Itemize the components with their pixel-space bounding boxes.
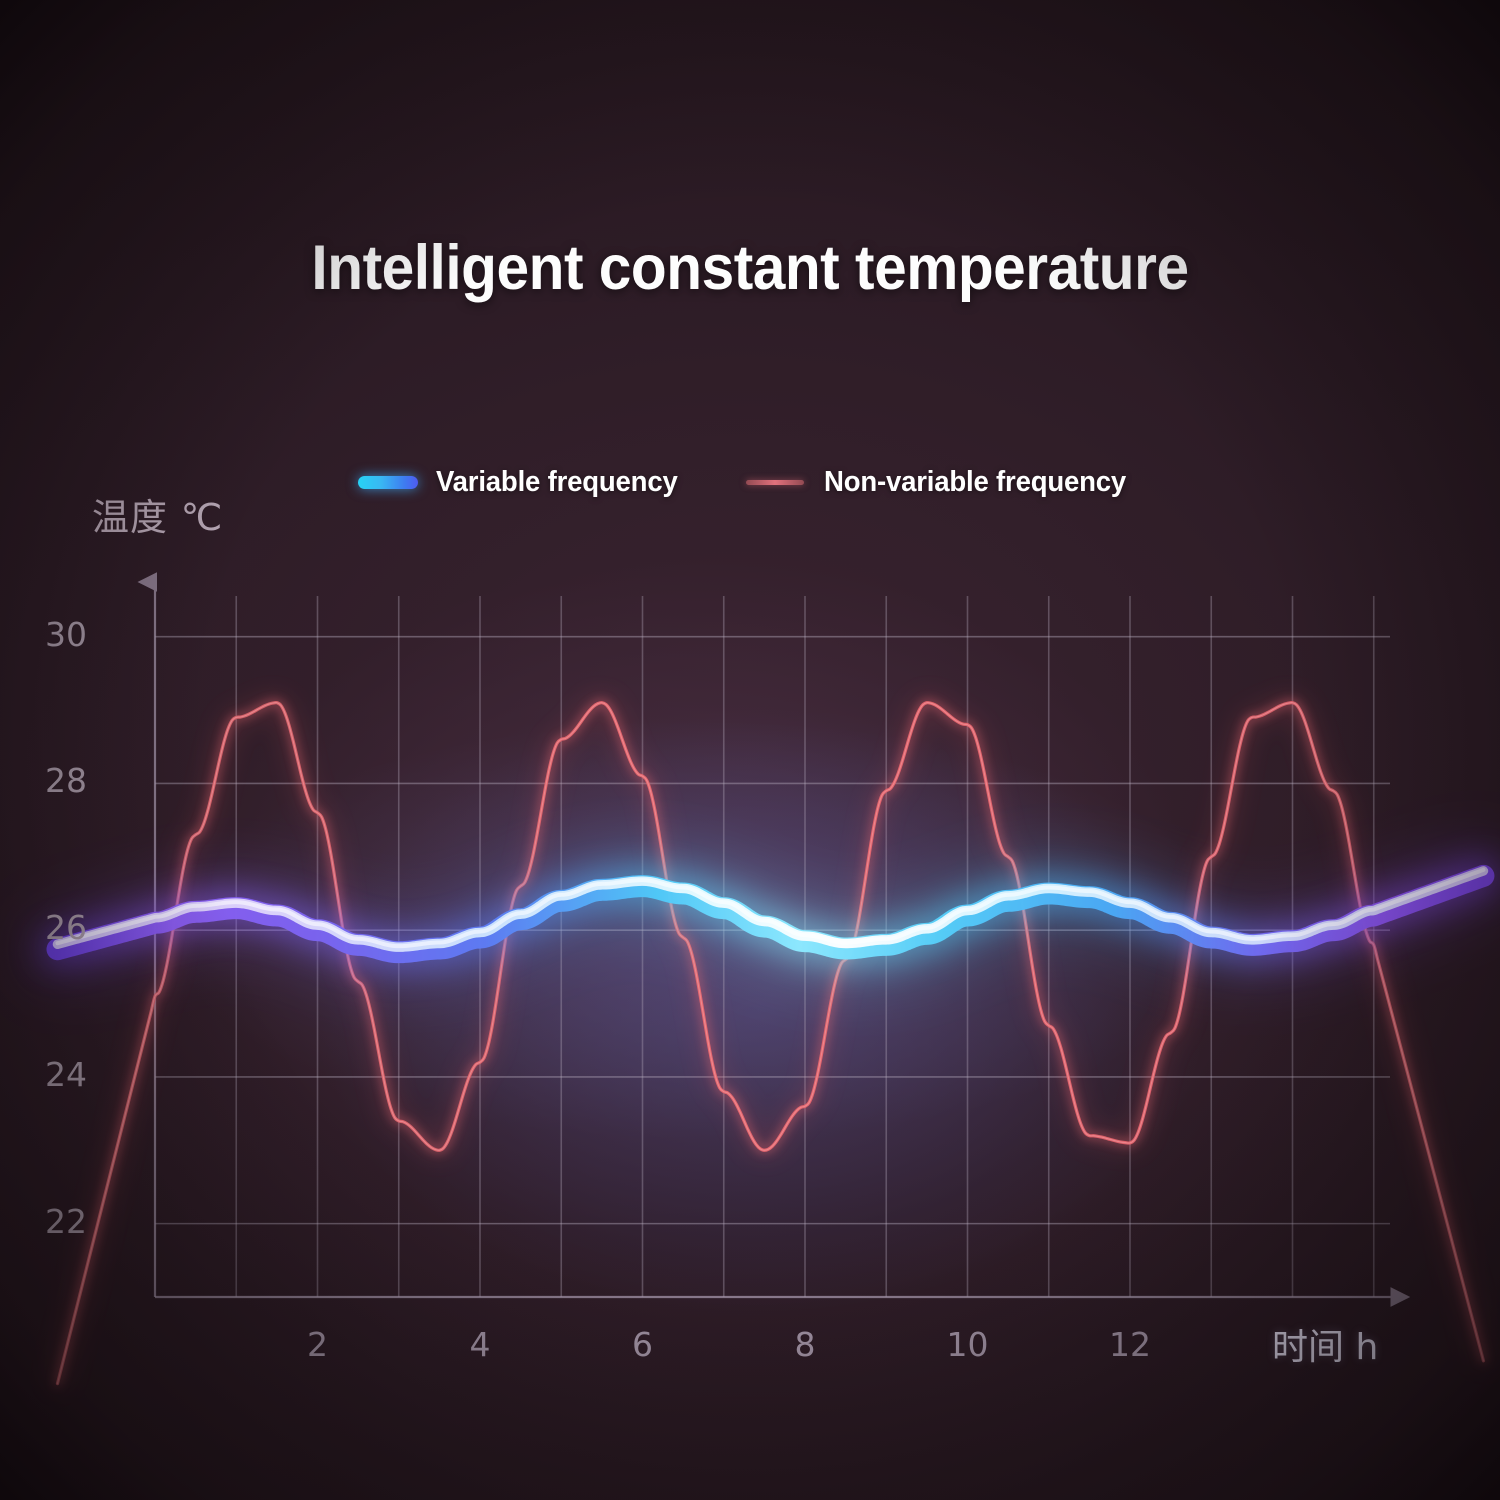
y-axis-tick-30: 30 [27, 615, 87, 654]
y-axis-tick-28: 28 [27, 761, 87, 800]
series-variable-frequency [58, 870, 1484, 952]
y-axis-tick-26: 26 [27, 908, 87, 947]
x-axis-tick-2: 2 [288, 1325, 348, 1364]
temperature-line-chart [0, 0, 1500, 1500]
x-axis-tick-8: 8 [775, 1325, 835, 1364]
series-non-variable-frequency [58, 703, 1484, 1384]
x-axis-tick-12: 12 [1100, 1325, 1160, 1364]
y-axis-tick-22: 22 [27, 1202, 87, 1241]
x-axis-tick-6: 6 [613, 1325, 673, 1364]
x-axis-tick-4: 4 [450, 1325, 510, 1364]
product-feature-banner: Intelligent constant temperature Variabl… [0, 0, 1500, 1500]
y-axis-tick-24: 24 [27, 1055, 87, 1094]
x-axis-tick-10: 10 [938, 1325, 998, 1364]
